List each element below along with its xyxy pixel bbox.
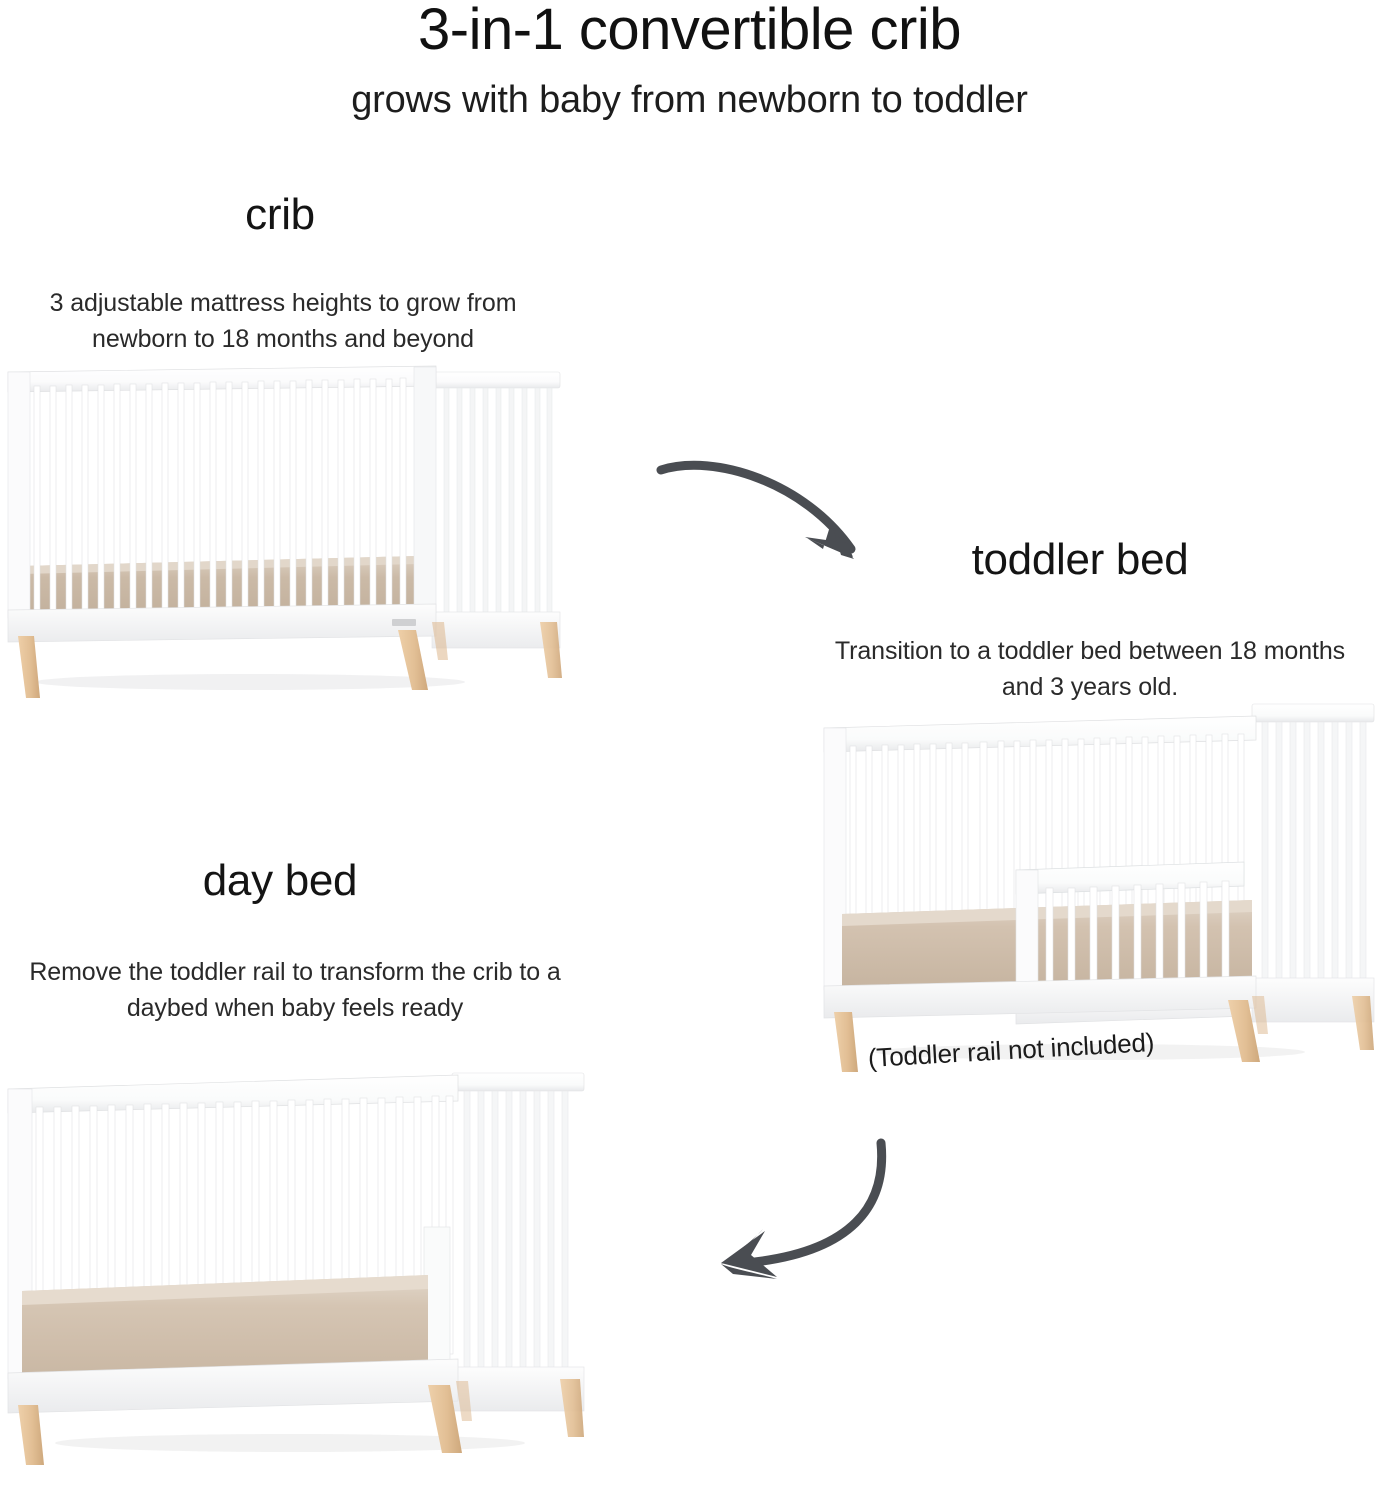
crib-image: [0, 360, 580, 700]
section-heading-day-bed: day bed: [0, 856, 560, 907]
section-heading-toddler-bed: toddler bed: [800, 535, 1360, 586]
section-description-toddler-bed: Transition to a toddler bed between 18 m…: [820, 634, 1360, 705]
page-subtitle: grows with baby from newborn to toddler: [0, 78, 1379, 124]
section-description-day-bed: Remove the toddler rail to transform the…: [0, 955, 590, 1026]
section-description-crib: 3 adjustable mattress heights to grow fr…: [0, 286, 566, 357]
arrow-toddler-to-daybed-icon: [685, 1135, 935, 1320]
section-heading-crib: crib: [0, 190, 560, 241]
day-bed-image: [0, 1055, 620, 1475]
page-title: 3-in-1 convertible crib: [0, 0, 1379, 63]
